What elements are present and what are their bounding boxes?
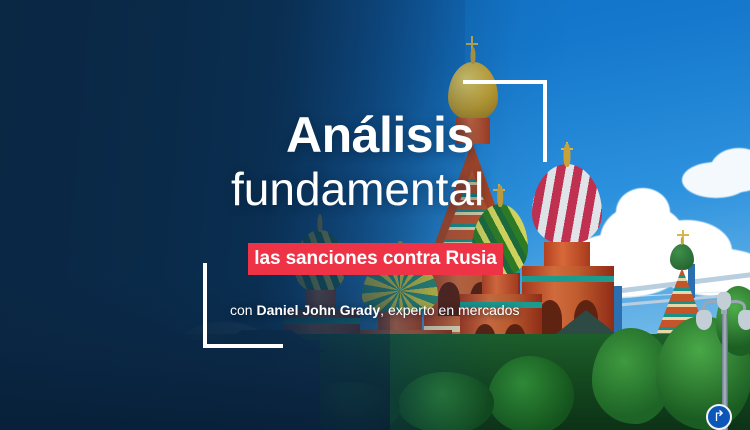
- speaker-credit: con Daniel John Grady, experto en mercad…: [230, 302, 519, 318]
- topic-badge: las sanciones contra Rusia: [248, 243, 503, 275]
- credit-prefix: con: [230, 302, 256, 318]
- top-right-bracket: [463, 80, 547, 162]
- banner-content: Análisis fundamental las sanciones contr…: [0, 0, 750, 430]
- credit-suffix: , experto en mercados: [380, 302, 519, 318]
- topic-badge-label: las sanciones contra Rusia: [254, 248, 496, 270]
- promo-banner: ↱ Análisis fundamental las sanc: [0, 0, 750, 430]
- page-title: Análisis: [286, 106, 474, 164]
- credit-speaker-name: Daniel John Grady: [256, 302, 380, 318]
- page-subtitle: fundamental: [231, 162, 484, 216]
